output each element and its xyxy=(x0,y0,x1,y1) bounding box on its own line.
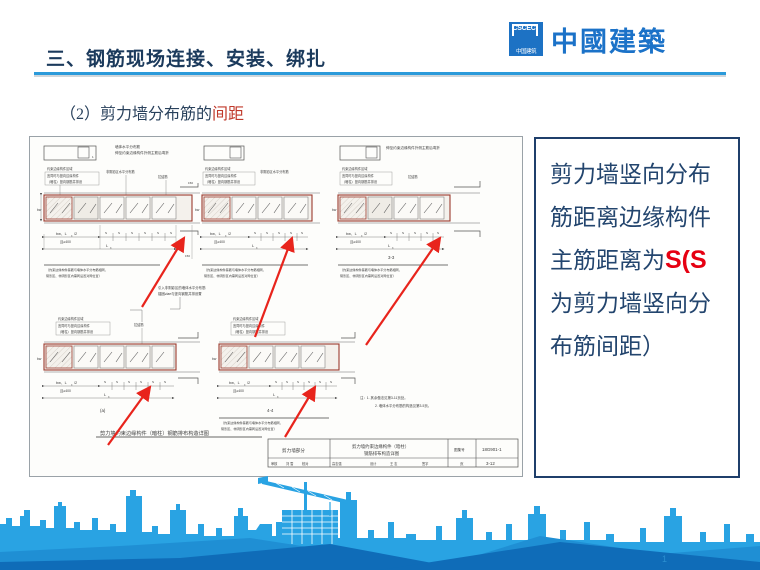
svg-text:（暗柱）竖向钢筋并排设: （暗柱）竖向钢筋并排设 xyxy=(47,179,83,184)
svg-text:150: 150 xyxy=(185,254,190,258)
svg-text:约束边缘构件区域: 约束边缘构件区域 xyxy=(233,316,259,321)
svg-text:S: S xyxy=(426,231,428,235)
svg-text:/2: /2 xyxy=(228,232,231,236)
svg-text:bw: bw xyxy=(212,357,217,361)
svg-text:约束边缘构件区域: 约束边缘构件区域 xyxy=(58,316,84,321)
callout-note-panel: 剪力墙竖向分布筋距离边缘构件主筋距离为S(S为剪力墙竖向分布筋间距） xyxy=(534,137,740,478)
svg-text:非阴影区水平分布筋: 非阴影区水平分布筋 xyxy=(106,169,135,174)
svg-text:阴影区、非阴影区内需同设置对同位置）: 阴影区、非阴影区内需同设置对同位置） xyxy=(204,273,260,278)
svg-text:且≥400: 且≥400 xyxy=(233,389,244,393)
callout-note-text: 剪力墙竖向分布筋距离边缘构件主筋距离为S(S为剪力墙竖向分布筋间距） xyxy=(550,153,726,368)
technical-drawing-svg: 1 墙体水平分布筋 伸至约束边缘构件外侧主筋后弯折 约束边缘构件区域 宜同时与竖… xyxy=(30,137,522,476)
svg-text:阴影区、非阴影区内需同设置对同位置）: 阴影区、非阴影区内需同设置对同位置） xyxy=(221,426,277,431)
svg-text:/2: /2 xyxy=(74,381,77,385)
cscec-logo-icon: CSCEC 中国建筑 xyxy=(509,22,543,56)
slide-header: 三、钢筋现场连接、安装、绑扎 CSCEC 中国建筑 中國建築 xyxy=(0,0,760,78)
svg-text:伸至约束边缘构件外侧主筋后弯折: 伸至约束边缘构件外侧主筋后弯折 xyxy=(386,145,440,150)
svg-text:（约束边缘构件箍筋与墙体水平分布筋相同，: （约束边缘构件箍筋与墙体水平分布筋相同， xyxy=(204,267,266,272)
svg-text:S: S xyxy=(118,231,120,235)
svg-text:S: S xyxy=(286,380,288,384)
svg-text:阴影区、非阴影区内需同设置对同位置）: 阴影区、非阴影区内需同设置对同位置） xyxy=(46,273,102,278)
footer-skyline: 1 xyxy=(0,466,760,570)
technical-drawing-panel: 1 墙体水平分布筋 伸至约束边缘构件外侧主筋后弯折 约束边缘构件区域 宜同时与竖… xyxy=(29,136,523,477)
svg-text:150: 150 xyxy=(188,181,193,185)
svg-text:S: S xyxy=(278,231,280,235)
svg-text:S: S xyxy=(254,231,256,235)
logo-abbr-text: CSCEC xyxy=(511,25,537,32)
svg-text:（约束边缘构件箍筋与墙体水平分布筋相同，: （约束边缘构件箍筋与墙体水平分布筋相同， xyxy=(221,420,283,425)
svg-text:（暗柱）竖向钢筋并排设: （暗柱）竖向钢筋并排设 xyxy=(233,329,269,334)
svg-text:（约束边缘构件箍筋与墙体水平分布筋相同，: （约束边缘构件箍筋与墙体水平分布筋相同， xyxy=(340,267,402,272)
svg-text:S: S xyxy=(157,231,159,235)
svg-text:S: S xyxy=(131,231,133,235)
svg-text:S: S xyxy=(319,380,321,384)
svg-text:(a): (a) xyxy=(100,408,106,413)
svg-text:且≥400: 且≥400 xyxy=(214,240,225,244)
svg-text:S: S xyxy=(170,231,172,235)
svg-text:剪力墙部分: 剪力墙部分 xyxy=(282,447,305,454)
svg-text:S: S xyxy=(144,231,146,235)
note-accent-s: S(S xyxy=(665,246,707,274)
svg-text:S: S xyxy=(104,380,106,384)
svg-text:S: S xyxy=(275,380,277,384)
section-subtitle: （2）剪力墙分布筋的间距 xyxy=(60,100,244,124)
svg-text:（暗柱）竖向钢筋并排设: （暗柱）竖向钢筋并排设 xyxy=(342,179,378,184)
svg-text:且≥400: 且≥400 xyxy=(60,240,71,244)
svg-text:S: S xyxy=(164,380,166,384)
svg-text:S: S xyxy=(266,231,268,235)
skyline-svg: 1 xyxy=(0,466,760,570)
svg-text:4-4: 4-4 xyxy=(267,408,274,413)
svg-text:2. 墙体水平分布筋的构造见第3-5页。: 2. 墙体水平分布筋的构造见第3-5页。 xyxy=(375,403,431,408)
svg-text:bw、L: bw、L xyxy=(210,232,221,236)
brand-name: 中國建築 xyxy=(551,20,667,59)
svg-text:S: S xyxy=(402,231,404,235)
svg-text:S: S xyxy=(297,380,299,384)
svg-text:S: S xyxy=(128,380,130,384)
svg-text:拉结筋: 拉结筋 xyxy=(158,174,168,179)
svg-text:约束边缘构件区域: 约束边缘构件区域 xyxy=(47,166,73,171)
svg-text:钢筋排布构造详图: 钢筋排布构造详图 xyxy=(364,450,400,457)
svg-text:（暗柱）竖向钢筋并排设: （暗柱）竖向钢筋并排设 xyxy=(58,329,94,334)
svg-text:注：1. 其余做法见第3-11页处。: 注：1. 其余做法见第3-11页处。 xyxy=(360,395,408,400)
svg-text:S: S xyxy=(330,380,332,384)
svg-text:图集号: 图集号 xyxy=(454,447,465,452)
svg-text:墙体水平分布筋: 墙体水平分布筋 xyxy=(115,144,141,149)
svg-text:S: S xyxy=(390,231,392,235)
svg-text:宜同时与竖向边缘构件: 宜同时与竖向边缘构件 xyxy=(205,173,238,178)
svg-text:约束边缘构件区域: 约束边缘构件区域 xyxy=(205,166,231,171)
svg-text:/2: /2 xyxy=(74,232,77,236)
svg-text:bw、L: bw、L xyxy=(229,381,240,385)
svg-text:bw、L: bw、L xyxy=(56,232,67,236)
svg-text:拉结筋: 拉结筋 xyxy=(408,174,418,179)
title-divider-shadow xyxy=(34,75,726,77)
svg-text:S: S xyxy=(105,231,107,235)
svg-text:bw、L: bw、L xyxy=(56,381,67,385)
svg-text:宜同时与竖向边缘构件: 宜同时与竖向边缘构件 xyxy=(58,323,91,328)
page-title: 三、钢筋现场连接、安装、绑扎 xyxy=(46,44,326,71)
note-line-6: 间距） xyxy=(596,334,665,359)
svg-text:（暗柱）竖向钢筋并排设: （暗柱）竖向钢筋并排设 xyxy=(205,179,241,184)
svg-text:bw: bw xyxy=(332,208,337,212)
svg-text:/2: /2 xyxy=(247,381,250,385)
svg-text:拉结筋: 拉结筋 xyxy=(134,322,144,327)
svg-text:/2: /2 xyxy=(364,232,367,236)
svg-text:剪力墙约束边缘构件（暗柱）: 剪力墙约束边缘构件（暗柱） xyxy=(352,443,409,450)
logo-abbr-cn-text: 中国建筑 xyxy=(509,47,543,55)
svg-text:（约束边缘构件箍筋与墙体水平分布筋相同，: （约束边缘构件箍筋与墙体水平分布筋相同， xyxy=(46,267,108,272)
svg-text:S: S xyxy=(140,380,142,384)
svg-text:非阴影区水平分布筋: 非阴影区水平分布筋 xyxy=(260,169,289,174)
note-line-4-suffix: 为剪力 xyxy=(550,291,619,316)
svg-text:约束边缘构件区域: 约束边缘构件区域 xyxy=(342,166,368,171)
svg-text:18G901-1: 18G901-1 xyxy=(482,447,502,452)
svg-text:锚固≥lae与竖向钢筋并排设置: 锚固≥lae与竖向钢筋并排设置 xyxy=(158,291,202,296)
page-number: 1 xyxy=(662,554,667,564)
svg-text:S: S xyxy=(308,380,310,384)
svg-text:宜同时与竖向边缘构件: 宜同时与竖向边缘构件 xyxy=(342,173,375,178)
svg-text:3-3: 3-3 xyxy=(388,255,395,260)
svg-text:S: S xyxy=(290,231,292,235)
subtitle-accent: 间距 xyxy=(212,106,244,123)
svg-text:bw、L: bw、L xyxy=(346,232,357,236)
brand-logo: CSCEC 中国建筑 中國建築 xyxy=(509,20,667,58)
svg-text:且≥400: 且≥400 xyxy=(60,389,71,393)
svg-text:S: S xyxy=(437,231,439,235)
svg-text:宜同时与竖向边缘构件: 宜同时与竖向边缘构件 xyxy=(47,173,80,178)
svg-text:阴影区、非阴影区内需同设置对同位置）: 阴影区、非阴影区内需同设置对同位置） xyxy=(340,273,396,278)
note-line-4-prefix: 为 xyxy=(642,248,665,273)
svg-text:bw: bw xyxy=(195,208,200,212)
svg-text:引入非阴影区的墙体水平分布筋: 引入非阴影区的墙体水平分布筋 xyxy=(158,285,206,290)
svg-text:S: S xyxy=(152,380,154,384)
svg-text:S: S xyxy=(414,231,416,235)
slide-root: 三、钢筋现场连接、安装、绑扎 CSCEC 中国建筑 中國建築 （2）剪力墙分布筋… xyxy=(0,0,760,570)
svg-text:S: S xyxy=(116,380,118,384)
note-line-1: 剪力墙竖向分 xyxy=(550,162,688,187)
svg-text:伸至约束边缘构件外侧主筋后弯折: 伸至约束边缘构件外侧主筋后弯折 xyxy=(115,150,169,155)
construction-crane-icon xyxy=(246,476,348,546)
svg-text:bw: bw xyxy=(37,357,42,361)
svg-text:且≥400: 且≥400 xyxy=(350,240,361,244)
subtitle-prefix: （2）剪力墙分布筋的 xyxy=(60,106,212,123)
svg-text:S: S xyxy=(301,231,303,235)
